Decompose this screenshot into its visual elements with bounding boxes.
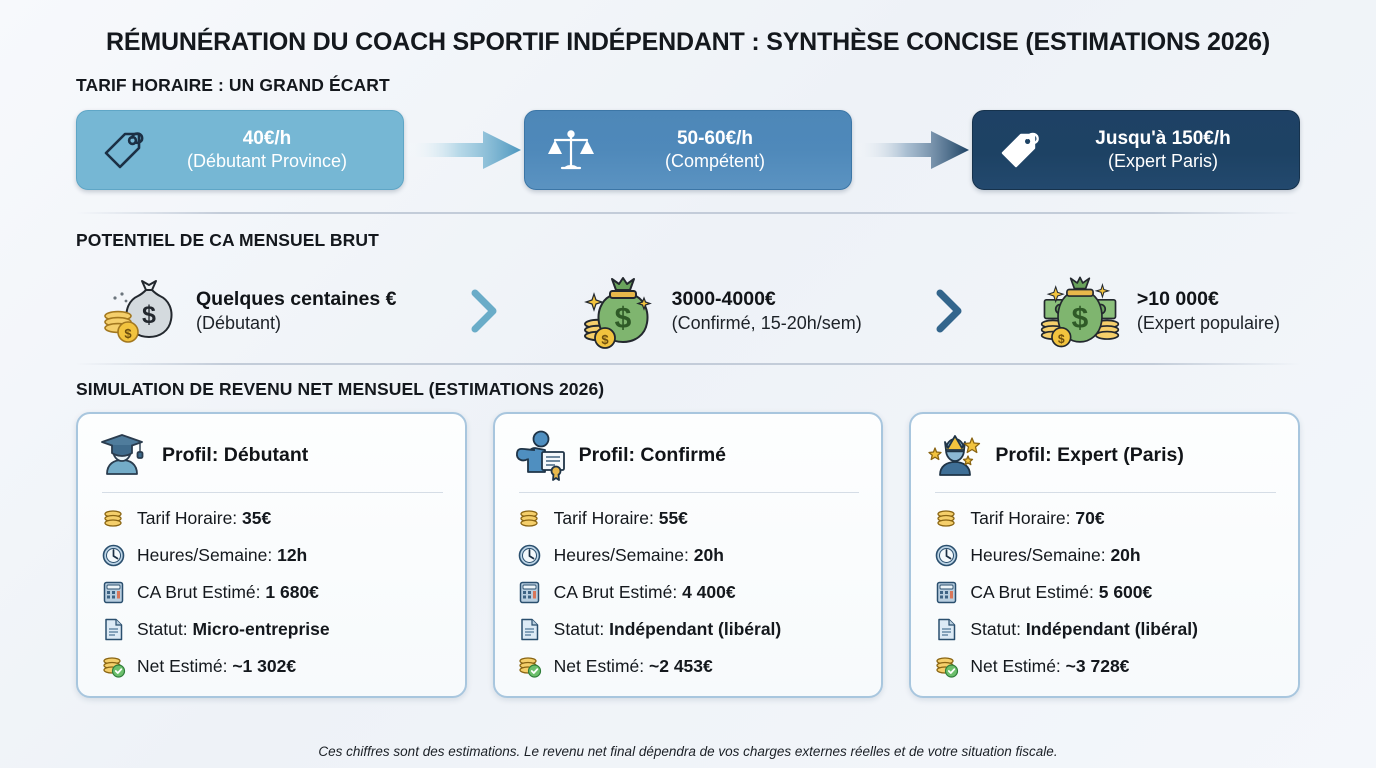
row-text: CA Brut Estimé: 4 400€ bbox=[554, 582, 736, 603]
calculator-icon bbox=[100, 579, 126, 605]
section-heading-simulation: SIMULATION DE REVENU NET MENSUEL (ESTIMA… bbox=[76, 379, 1338, 400]
row-text: CA Brut Estimé: 5 600€ bbox=[970, 582, 1152, 603]
calculator-icon bbox=[517, 579, 543, 605]
svg-text:$: $ bbox=[1058, 332, 1065, 346]
coins-stack-icon bbox=[517, 505, 543, 531]
ca-step-text: >10 000€ (Expert populaire) bbox=[1137, 287, 1280, 334]
tarif-amount: 50-60€/h bbox=[677, 128, 753, 149]
card-row-statut: Statut: Indépendant (libéral) bbox=[933, 614, 1282, 644]
section-heading-ca: POTENTIEL DE CA MENSUEL BRUT bbox=[76, 230, 1338, 251]
ca-step-expert[interactable]: $ $ >10 000€ (Expert populaire) bbox=[1037, 272, 1280, 350]
card-rows: Tarif Horaire: 55€ Heures/Semaine: 20h C… bbox=[511, 503, 866, 681]
infographic-page: RÉMUNÉRATION DU COACH SPORTIF INDÉPENDAN… bbox=[0, 0, 1376, 768]
clock-icon bbox=[100, 542, 126, 568]
tarif-step-competent[interactable]: 50-60€/h (Compétent) bbox=[524, 110, 852, 190]
money-bag-silver-icon: $ $ bbox=[96, 272, 182, 350]
card-separator bbox=[519, 492, 860, 493]
section-simulation: SIMULATION DE REVENU NET MENSUEL (ESTIMA… bbox=[38, 379, 1338, 698]
card-row-net: Net Estimé: ~3 728€ bbox=[933, 651, 1282, 681]
row-text: Tarif Horaire: 35€ bbox=[137, 508, 271, 529]
coins-check-icon bbox=[517, 653, 543, 679]
chevron-right-icon-2 bbox=[862, 287, 1037, 335]
card-row-heures: Heures/Semaine: 20h bbox=[517, 540, 866, 570]
ca-label: (Confirmé, 15-20h/sem) bbox=[672, 313, 862, 333]
clock-icon bbox=[933, 542, 959, 568]
section-divider-2 bbox=[76, 363, 1300, 365]
card-rows: Tarif Horaire: 35€ Heures/Semaine: 12h C… bbox=[94, 503, 449, 681]
ca-step-debutant[interactable]: $ $ Quelques centaines bbox=[96, 272, 397, 350]
arrow-right-icon-1 bbox=[404, 127, 524, 173]
card-row-heures: Heures/Semaine: 20h bbox=[933, 540, 1282, 570]
clock-icon bbox=[517, 542, 543, 568]
price-tag-icon bbox=[993, 124, 1045, 176]
ca-label: (Expert populaire) bbox=[1137, 313, 1280, 333]
row-text: Statut: Indépendant (libéral) bbox=[970, 619, 1198, 640]
card-row-heures: Heures/Semaine: 12h bbox=[100, 540, 449, 570]
row-text: Statut: Indépendant (libéral) bbox=[554, 619, 782, 640]
tarif-label: (Débutant Province) bbox=[187, 151, 347, 171]
profile-card-confirme[interactable]: Profil: Confirmé Tarif Horaire: 55€ bbox=[493, 412, 884, 698]
ca-label: (Débutant) bbox=[196, 313, 281, 333]
svg-text:$: $ bbox=[601, 332, 609, 347]
card-separator bbox=[102, 492, 443, 493]
ca-step-confirme[interactable]: $ $ 3000-4000€ (Confirmé, 15-20h/sem) bbox=[572, 272, 862, 350]
tarif-step-text: Jusqu'à 150€/h (Expert Paris) bbox=[1059, 127, 1279, 172]
svg-text:$: $ bbox=[614, 302, 631, 335]
row-text: Net Estimé: ~2 453€ bbox=[554, 656, 713, 677]
document-icon bbox=[100, 616, 126, 642]
row-text: Tarif Horaire: 55€ bbox=[554, 508, 688, 529]
price-tag-icon bbox=[97, 124, 149, 176]
tarif-label: (Compétent) bbox=[665, 151, 765, 171]
money-bags-stack-icon: $ $ bbox=[1037, 272, 1123, 350]
ca-amount: 3000-4000€ bbox=[672, 288, 776, 310]
section-tarif-horaire: TARIF HORAIRE : UN GRAND ÉCART 40€/h (D bbox=[38, 75, 1338, 190]
row-text: CA Brut Estimé: 1 680€ bbox=[137, 582, 319, 603]
tarif-amount: 40€/h bbox=[243, 128, 292, 149]
section-ca-mensuel: POTENTIEL DE CA MENSUEL BRUT $ bbox=[38, 230, 1338, 363]
section-heading-tarif: TARIF HORAIRE : UN GRAND ÉCART bbox=[76, 75, 1338, 96]
card-header: Profil: Débutant bbox=[94, 424, 449, 486]
tarif-step-text: 50-60€/h (Compétent) bbox=[611, 127, 831, 172]
profile-card-debutant[interactable]: Profil: Débutant Tarif Horaire: 35€ bbox=[76, 412, 467, 698]
coins-check-icon bbox=[933, 653, 959, 679]
footer-disclaimer: Ces chiffres sont des estimations. Le re… bbox=[0, 744, 1376, 759]
arrow-right-icon-2 bbox=[852, 127, 972, 173]
ca-step-text: 3000-4000€ (Confirmé, 15-20h/sem) bbox=[672, 287, 862, 334]
tarif-steps-row: 40€/h (Débutant Province) bbox=[38, 110, 1338, 190]
row-text: Net Estimé: ~1 302€ bbox=[137, 656, 296, 677]
chevron-right-icon-1 bbox=[397, 287, 572, 335]
tarif-step-expert[interactable]: Jusqu'à 150€/h (Expert Paris) bbox=[972, 110, 1300, 190]
money-bag-green-icon: $ $ bbox=[572, 272, 658, 350]
card-row-tarif: Tarif Horaire: 70€ bbox=[933, 503, 1282, 533]
flexing-certified-avatar-icon bbox=[511, 427, 567, 483]
profile-cards-row: Profil: Débutant Tarif Horaire: 35€ bbox=[38, 412, 1338, 698]
card-header: Profil: Expert (Paris) bbox=[927, 424, 1282, 486]
card-row-ca: CA Brut Estimé: 4 400€ bbox=[517, 577, 866, 607]
tarif-step-text: 40€/h (Débutant Province) bbox=[163, 127, 383, 172]
card-header: Profil: Confirmé bbox=[511, 424, 866, 486]
row-text: Heures/Semaine: 12h bbox=[137, 545, 307, 566]
card-row-statut: Statut: Indépendant (libéral) bbox=[517, 614, 866, 644]
tarif-amount: Jusqu'à 150€/h bbox=[1095, 128, 1230, 149]
profile-card-expert[interactable]: Profil: Expert (Paris) Tarif Horaire: 70… bbox=[909, 412, 1300, 698]
card-row-ca: CA Brut Estimé: 1 680€ bbox=[100, 577, 449, 607]
graduate-avatar-icon bbox=[94, 427, 150, 483]
ca-amount: Quelques centaines € bbox=[196, 288, 397, 310]
card-rows: Tarif Horaire: 70€ Heures/Semaine: 20h C… bbox=[927, 503, 1282, 681]
document-icon bbox=[933, 616, 959, 642]
card-row-net: Net Estimé: ~1 302€ bbox=[100, 651, 449, 681]
document-icon bbox=[517, 616, 543, 642]
row-text: Heures/Semaine: 20h bbox=[970, 545, 1140, 566]
ca-step-text: Quelques centaines € (Débutant) bbox=[196, 287, 397, 334]
calculator-icon bbox=[933, 579, 959, 605]
card-row-statut: Statut: Micro-entreprise bbox=[100, 614, 449, 644]
svg-text:$: $ bbox=[142, 301, 156, 329]
card-row-net: Net Estimé: ~2 453€ bbox=[517, 651, 866, 681]
coins-stack-icon bbox=[100, 505, 126, 531]
card-title: Profil: Confirmé bbox=[579, 444, 726, 467]
card-separator bbox=[935, 492, 1276, 493]
section-divider-1 bbox=[76, 212, 1300, 214]
ca-steps-row: $ $ Quelques centaines bbox=[38, 259, 1338, 363]
card-row-tarif: Tarif Horaire: 55€ bbox=[517, 503, 866, 533]
card-row-ca: CA Brut Estimé: 5 600€ bbox=[933, 577, 1282, 607]
scales-balance-icon bbox=[545, 124, 597, 176]
ca-amount: >10 000€ bbox=[1137, 288, 1219, 310]
crowned-star-avatar-icon bbox=[927, 427, 983, 483]
card-title: Profil: Expert (Paris) bbox=[995, 444, 1184, 467]
page-title: RÉMUNÉRATION DU COACH SPORTIF INDÉPENDAN… bbox=[38, 22, 1338, 57]
svg-text:$: $ bbox=[124, 326, 132, 341]
svg-text:$: $ bbox=[1072, 302, 1089, 335]
card-title: Profil: Débutant bbox=[162, 444, 308, 467]
row-text: Heures/Semaine: 20h bbox=[554, 545, 724, 566]
coins-check-icon bbox=[100, 653, 126, 679]
tarif-step-debutant[interactable]: 40€/h (Débutant Province) bbox=[76, 110, 404, 190]
row-text: Tarif Horaire: 70€ bbox=[970, 508, 1104, 529]
tarif-label: (Expert Paris) bbox=[1108, 151, 1218, 171]
row-text: Statut: Micro-entreprise bbox=[137, 619, 330, 640]
coins-stack-icon bbox=[933, 505, 959, 531]
card-row-tarif: Tarif Horaire: 35€ bbox=[100, 503, 449, 533]
row-text: Net Estimé: ~3 728€ bbox=[970, 656, 1129, 677]
